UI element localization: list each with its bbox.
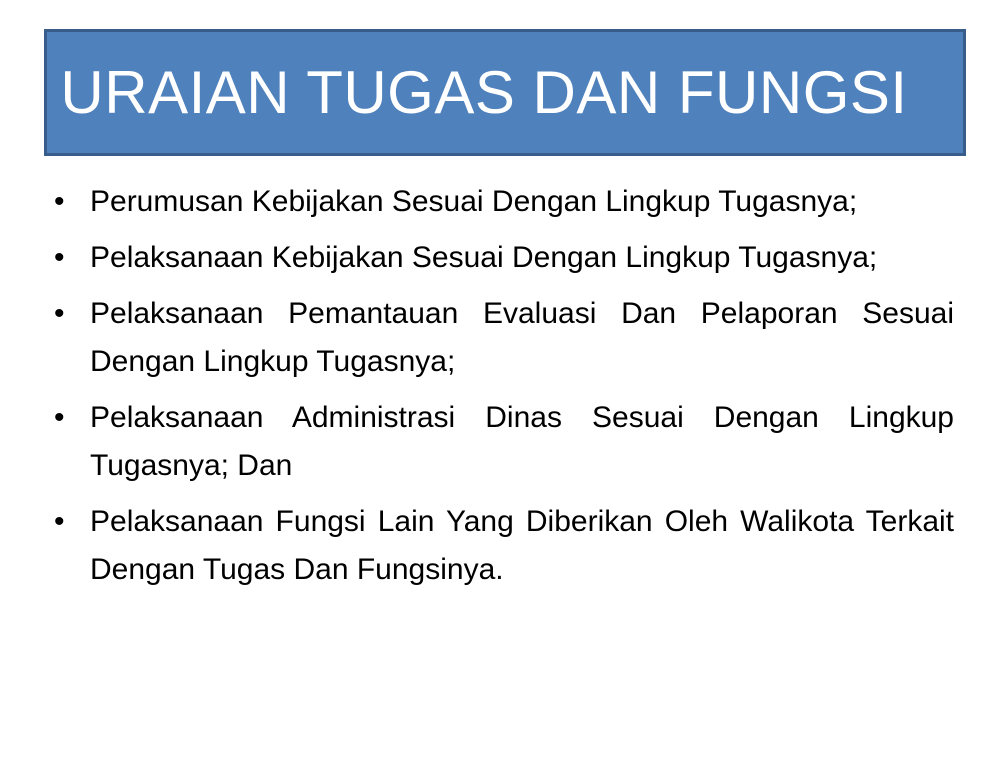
bullet-icon: • <box>44 498 90 546</box>
list-item-text: Pelaksanaan Administrasi Dinas Sesuai De… <box>90 394 954 490</box>
title-banner: URAIAN TUGAS DAN FUNGSI <box>44 29 966 156</box>
list-item: • Pelaksanaan Administrasi Dinas Sesuai … <box>44 394 954 490</box>
list-item: • Pelaksanaan Pemantauan Evaluasi Dan Pe… <box>44 290 954 386</box>
bullet-icon: • <box>44 178 90 226</box>
list-item-text: Pelaksanaan Pemantauan Evaluasi Dan Pela… <box>90 290 954 386</box>
bullet-icon: • <box>44 290 90 338</box>
page-title: URAIAN TUGAS DAN FUNGSI <box>60 63 949 123</box>
list-item-text: Perumusan Kebijakan Sesuai Dengan Lingku… <box>90 178 954 226</box>
list-item: • Pelaksanaan Kebijakan Sesuai Dengan Li… <box>44 234 954 282</box>
list-item: • Pelaksanaan Fungsi Lain Yang Diberikan… <box>44 498 954 594</box>
bullet-icon: • <box>44 394 90 442</box>
bullet-list: • Perumusan Kebijakan Sesuai Dengan Ling… <box>44 178 954 602</box>
list-item: • Perumusan Kebijakan Sesuai Dengan Ling… <box>44 178 954 226</box>
bullet-icon: • <box>44 234 90 282</box>
slide-canvas: { "slide": { "title": "URAIAN TUGAS DAN … <box>0 0 1007 757</box>
list-item-text: Pelaksanaan Kebijakan Sesuai Dengan Ling… <box>90 234 954 282</box>
list-item-text: Pelaksanaan Fungsi Lain Yang Diberikan O… <box>90 498 954 594</box>
